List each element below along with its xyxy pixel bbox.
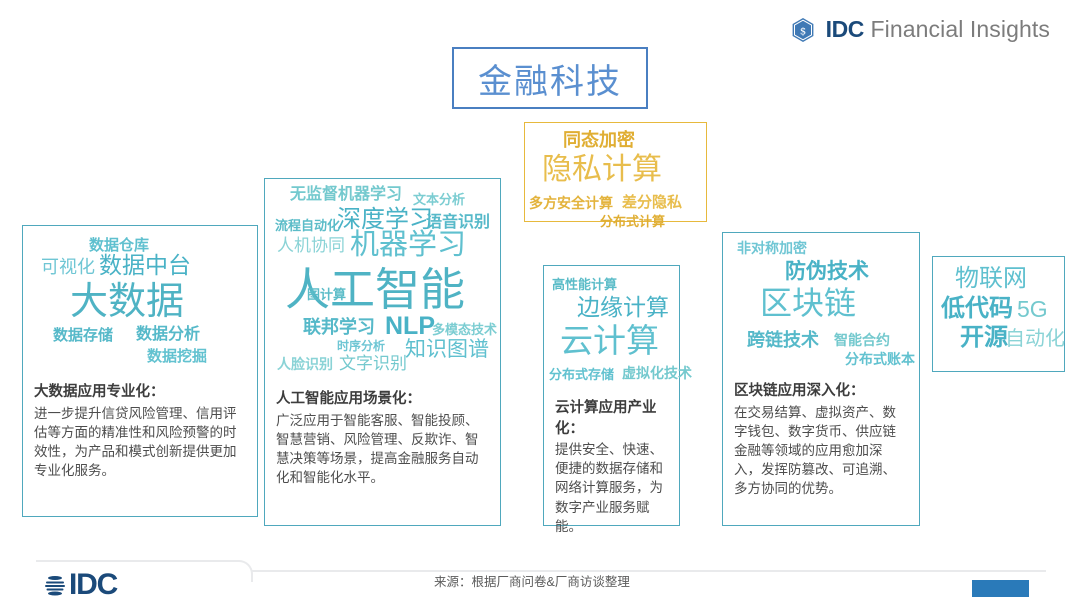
wordcloud-term: 多模态技术 [432,323,497,336]
wordcloud-blockchain: 非对称加密防伪技术区块链跨链技术智能合约分布式账本 [723,237,919,375]
card-blockchain[interactable]: 非对称加密防伪技术区块链跨链技术智能合约分布式账本 区块链应用深入化： 在交易结… [722,232,920,526]
wordcloud-term: 跨链技术 [747,331,819,349]
card-body-big-data: 大数据应用专业化： 进一步提升信贷风险管理、信用评估等方面的精准性和风险预警的时… [23,382,257,480]
wordcloud-term: 多方安全计算 [529,196,613,210]
wordcloud-term: 联邦学习 [303,318,375,336]
wordcloud-internet-of-things: 物联网低代码5G开源自动化 [933,261,1064,373]
wordcloud-term: 人脸识别 [277,357,333,371]
idc-globe-logo-icon [44,573,66,597]
idc-hexagon-logo-icon: $ [790,17,816,43]
wordcloud-term: 差分隐私 [622,195,682,210]
brand-label: IDC Financial Insights [826,16,1050,43]
wordcloud-term: 知识图谱 [405,339,489,360]
wordcloud-term: 5G [1017,298,1048,321]
idc-financial-insights-brand: $ IDC Financial Insights [790,16,1050,43]
card-body-artificial-intelligence: 人工智能应用场景化： 广泛应用于智能客服、智能投顾、智慧营销、风险管理、反欺诈、… [265,389,500,487]
card-artificial-intelligence[interactable]: 无监督机器学习文本分析流程自动化深度学习语音识别人机协同机器学习人工智能图计算联… [264,178,501,526]
wordcloud-term: 无监督机器学习 [290,187,402,203]
card-text: 广泛应用于智能客服、智能投顾、智慧营销、风险管理、反欺诈、智慧决策等场景，提高金… [276,413,479,485]
accent-block [972,580,1029,597]
wordcloud-term: 机器学习 [350,231,466,260]
wordcloud-term: 区块链 [760,287,856,319]
idc-footer-logo: IDC [44,568,117,602]
wordcloud-term: 可视化 [41,258,95,276]
svg-text:$: $ [799,26,805,37]
page-title: 金融科技 [452,47,648,109]
card-heading: 人工智能应用场景化： [276,389,489,410]
wordcloud-term: 分布式账本 [845,352,915,366]
wordcloud-term: 智能合约 [834,333,890,347]
wordcloud-term: 文本分析 [413,193,465,206]
card-body-cloud-computing: 云计算应用产业化： 提供安全、快速、便捷的数据存储和网络计算服务，为数字产业服务… [544,398,679,536]
wordcloud-term: NLP [385,314,435,339]
wordcloud-term: 自动化 [1005,329,1065,349]
wordcloud-term: 开源 [960,326,1008,350]
wordcloud-term: 物联网 [955,267,1027,291]
card-cloud-computing[interactable]: 高性能计算边缘计算云计算分布式存储虚拟化技术 云计算应用产业化： 提供安全、快速… [543,265,680,526]
wordcloud-term: 非对称加密 [737,241,807,255]
card-text: 进一步提升信贷风险管理、信用评估等方面的精准性和风险预警的时效性，为产品和模式创… [34,406,237,478]
source-note: 来源：根据厂商问卷&厂商访谈整理 [434,571,630,590]
page-title-label: 金融科技 [478,54,622,103]
wordcloud-term: 虚拟化技术 [622,366,692,380]
wordcloud-term: 数据挖掘 [147,349,207,364]
wordcloud-term: 分布式存储 [549,368,614,381]
wordcloud-term: 分布式计算 [600,215,665,228]
card-heading: 大数据应用专业化： [34,382,246,403]
wordcloud-term: 边缘计算 [577,296,669,319]
wordcloud-term: 图计算 [307,288,346,301]
wordcloud-term: 隐私计算 [542,155,662,185]
wordcloud-cloud-computing: 高性能计算边缘计算云计算分布式存储虚拟化技术 [544,272,679,390]
card-text: 提供安全、快速、便捷的数据存储和网络计算服务，为数字产业服务赋能。 [555,442,663,534]
wordcloud-privacy-computing: 同态加密隐私计算多方安全计算差分隐私分布式计算 [525,127,706,225]
wordcloud-term: 同态加密 [563,131,635,149]
card-privacy-computing[interactable]: 同态加密隐私计算多方安全计算差分隐私分布式计算 [524,122,707,222]
wordcloud-term: 低代码 [941,297,1013,321]
brand-rest: Financial Insights [864,16,1050,42]
wordcloud-term: 云计算 [560,324,659,357]
card-heading: 云计算应用产业化： [555,398,668,439]
wordcloud-term: 数据分析 [136,327,200,343]
wordcloud-term: 人机协同 [277,237,345,254]
idc-footer-label: IDC [69,568,117,602]
wordcloud-term: 大数据 [70,283,184,321]
wordcloud-term: 时序分析 [337,340,385,352]
card-text: 在交易结算、虚拟资产、数字钱包、数字货币、供应链金融等领域的应用愈加深入，发挥防… [734,405,896,497]
card-internet-of-things[interactable]: 物联网低代码5G开源自动化 [932,256,1065,372]
wordcloud-big-data: 数据仓库可视化数据中台大数据数据存储数据分析数据挖掘 [23,232,257,374]
wordcloud-term: 数据仓库 [89,238,149,253]
wordcloud-term: 文字识别 [339,355,407,372]
card-body-blockchain: 区块链应用深入化： 在交易结算、虚拟资产、数字钱包、数字货币、供应链金融等领域的… [723,381,919,498]
wordcloud-term: 流程自动化 [275,219,340,232]
brand-bold: IDC [826,16,864,42]
wordcloud-term: 高性能计算 [552,278,617,291]
card-heading: 区块链应用深入化： [734,381,908,402]
wordcloud-term: 防伪技术 [785,261,869,282]
wordcloud-term: 数据存储 [53,328,113,343]
wordcloud-artificial-intelligence: 无监督机器学习文本分析流程自动化深度学习语音识别人机协同机器学习人工智能图计算联… [265,183,500,381]
card-big-data[interactable]: 数据仓库可视化数据中台大数据数据存储数据分析数据挖掘 大数据应用专业化： 进一步… [22,225,258,517]
wordcloud-term: 数据中台 [99,254,191,277]
